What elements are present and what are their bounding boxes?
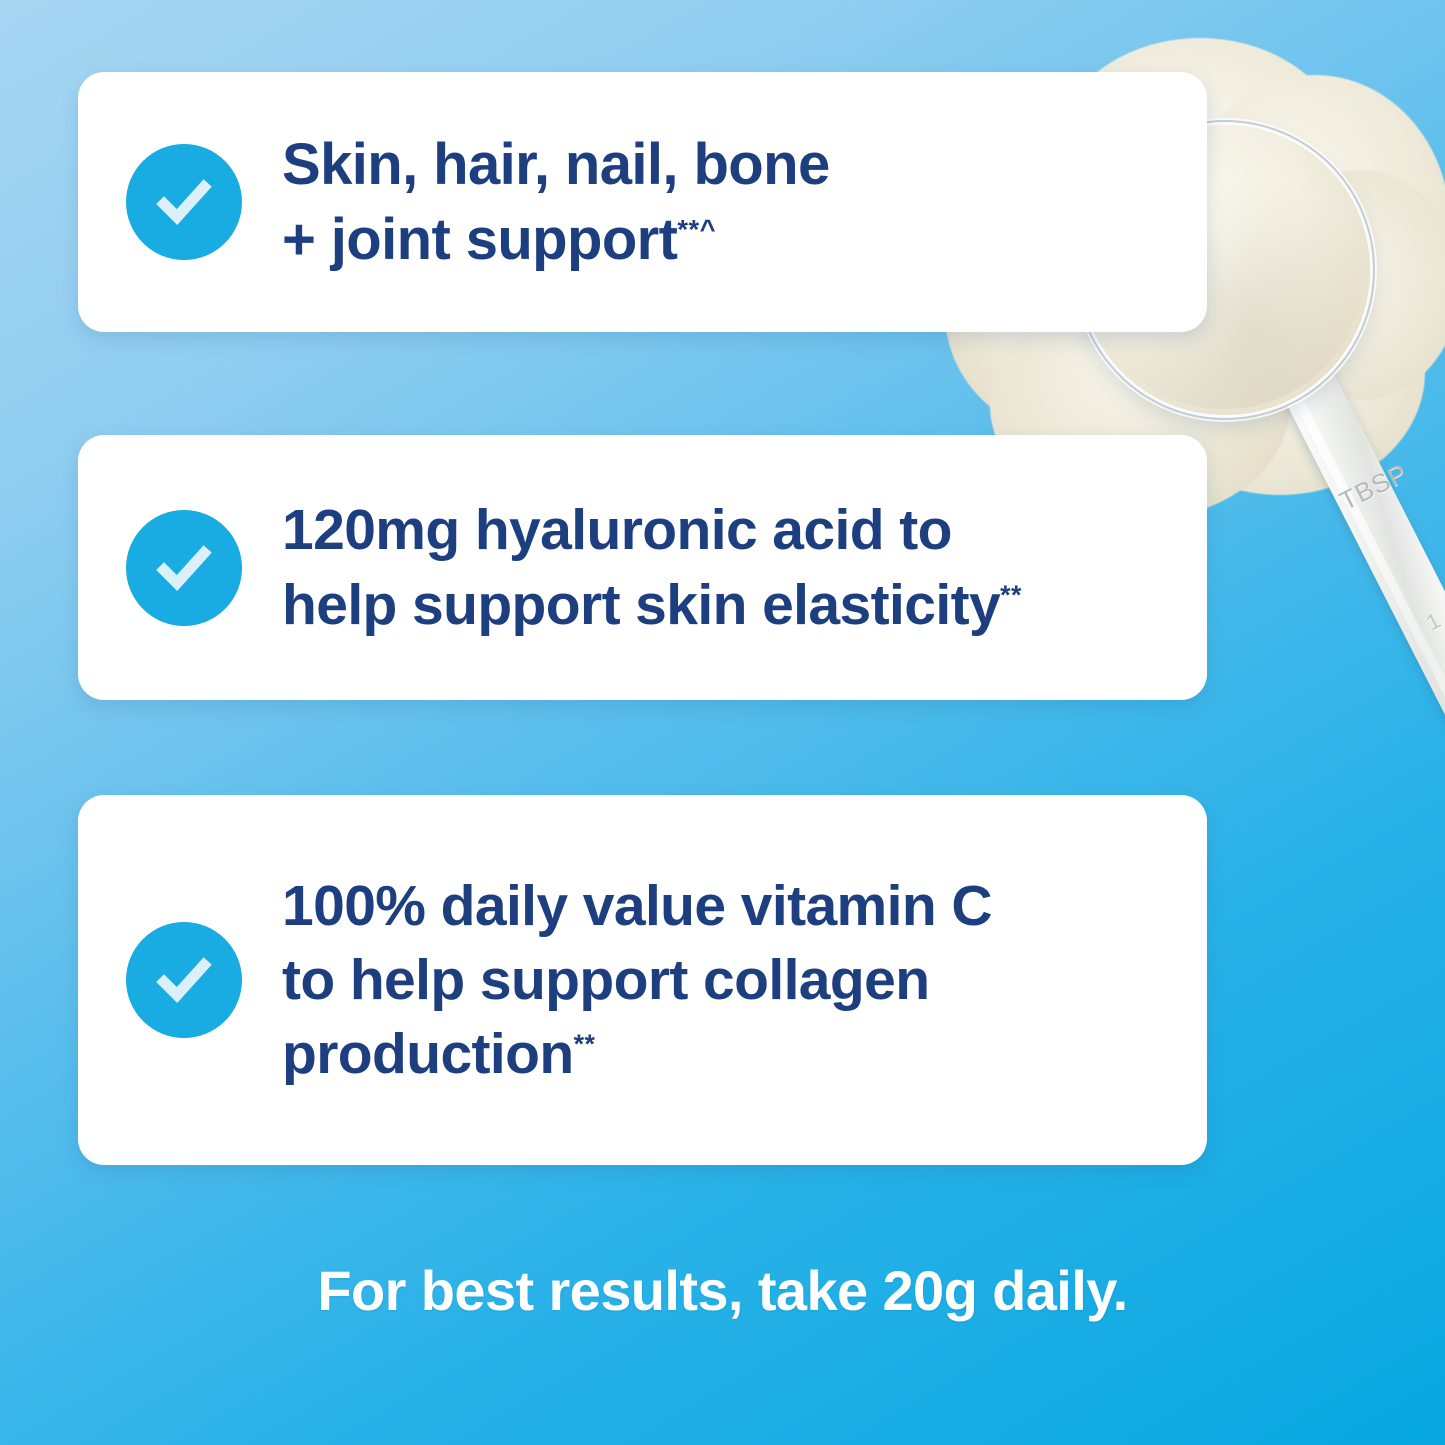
benefit-card-3: 100% daily value vitamin C to help suppo… (78, 795, 1207, 1165)
benefit-3-icon-wrap (126, 922, 242, 1038)
benefit-2-line-2-text: help support skin elasticity (282, 573, 1000, 637)
benefit-2-icon-wrap (126, 510, 242, 626)
benefit-3-line-2: to help support collagen (282, 943, 992, 1017)
benefit-2-footnote: ** (1000, 580, 1022, 610)
powder-blob (1260, 170, 1445, 400)
benefit-1-line-2: + joint support**^ (282, 202, 830, 277)
scoop-tbsp-marking: TBSP (1335, 464, 1399, 517)
check-circle-icon (126, 510, 242, 626)
benefit-3-footnote: ** (574, 1029, 596, 1059)
benefit-1-line-1: Skin, hair, nail, bone (282, 127, 830, 202)
benefit-2-line-1: 120mg hyaluronic acid to (282, 493, 1022, 567)
scoop-secondary-marking: 1 (1403, 598, 1445, 647)
powder-blob (1180, 75, 1445, 375)
measuring-scoop-handle: TBSP 1 (1263, 332, 1445, 741)
check-circle-icon (126, 922, 242, 1038)
benefit-2-text: 120mg hyaluronic acid to help support sk… (282, 493, 1022, 641)
benefit-3-line-1: 100% daily value vitamin C (282, 869, 992, 943)
benefit-2-line-2: help support skin elasticity** (282, 568, 1022, 642)
check-circle-icon (126, 144, 242, 260)
benefit-1-footnote: **^ (677, 214, 716, 245)
benefit-1-line-2-text: + joint support (282, 207, 677, 272)
benefit-1-text: Skin, hair, nail, bone + joint support**… (282, 127, 830, 278)
benefit-3-line-3: production** (282, 1017, 992, 1091)
benefit-1-icon-wrap (126, 144, 242, 260)
dosage-note: For best results, take 20g daily. (0, 1258, 1445, 1323)
benefit-card-1: Skin, hair, nail, bone + joint support**… (78, 72, 1207, 332)
benefit-3-text: 100% daily value vitamin C to help suppo… (282, 869, 992, 1091)
benefit-card-2: 120mg hyaluronic acid to help support sk… (78, 435, 1207, 700)
benefit-3-line-3-text: production (282, 1022, 574, 1086)
promo-image-canvas: TBSP 1 Skin, hair, nail, bone + joint su… (0, 0, 1445, 1445)
